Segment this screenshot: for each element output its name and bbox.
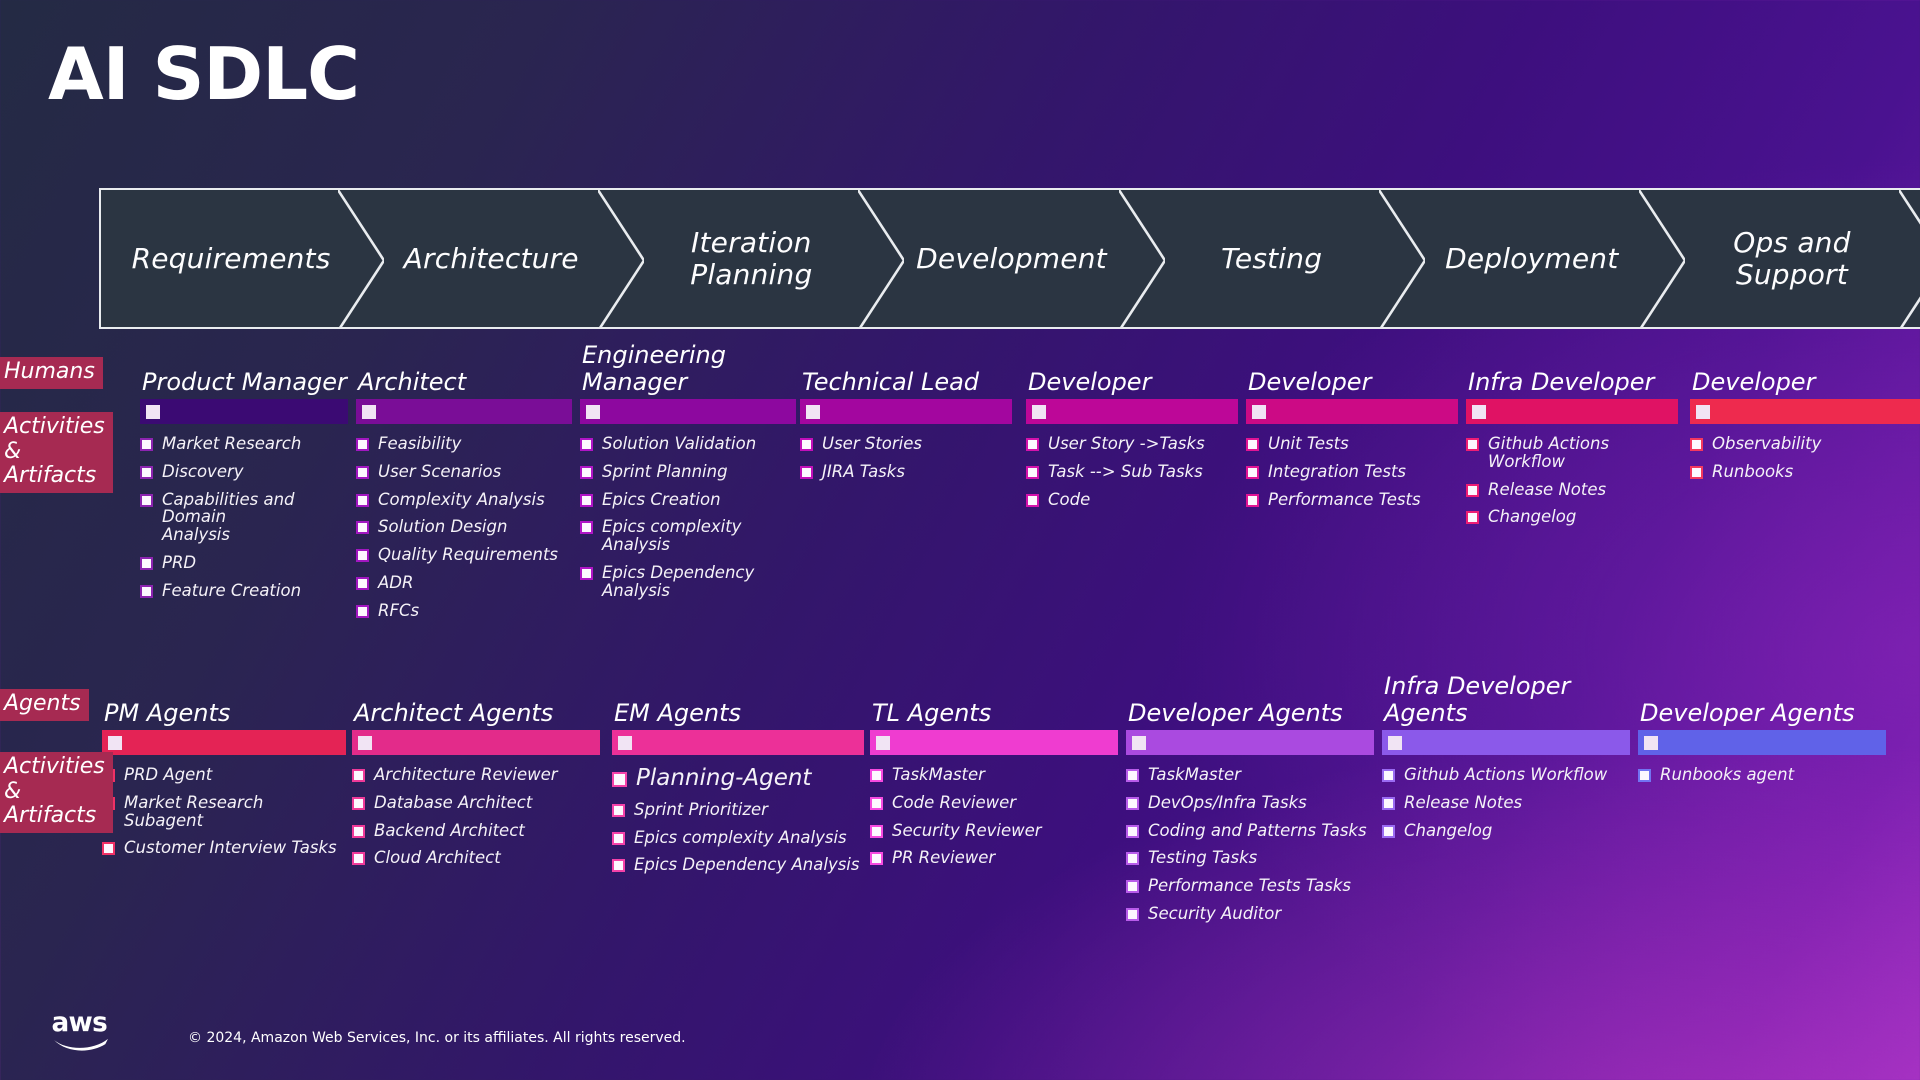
list-item-label: Epics Creation — [602, 491, 721, 509]
agent-item-list: TaskMasterDevOps/Infra TasksCoding and P… — [1126, 766, 1374, 923]
agent-item-list: Architecture ReviewerDatabase ArchitectB… — [352, 766, 600, 867]
human-color-bar — [1690, 399, 1920, 424]
phase-label: Testing — [1195, 243, 1348, 274]
human-column: Technical LeadUser StoriesJIRA Tasks — [800, 399, 1012, 491]
human-role-title: Architect — [358, 369, 614, 395]
agent-color-bar — [102, 730, 346, 755]
list-item[interactable]: Solution Validation — [580, 435, 796, 453]
checkbox-icon[interactable] — [1126, 769, 1139, 782]
agent-column: Developer AgentsTaskMasterDevOps/Infra T… — [1126, 730, 1374, 933]
row-label-humans-activities: Activities & Artifacts — [0, 412, 113, 493]
copyright-text: © 2024, Amazon Web Services, Inc. or its… — [188, 1030, 686, 1046]
phase-label: Development — [890, 243, 1133, 274]
checkbox-icon[interactable] — [356, 466, 369, 479]
phase-2[interactable]: Architecture — [361, 190, 621, 327]
list-item[interactable]: Capabilities and Domain Analysis — [140, 491, 348, 544]
list-item-label: Database Architect — [374, 794, 532, 812]
list-item-label: Unit Tests — [1268, 435, 1349, 453]
list-item-label: Changelog — [1488, 508, 1576, 526]
human-column: DeveloperUnit TestsIntegration TestsPerf… — [1246, 399, 1458, 518]
list-item[interactable]: ADR — [356, 574, 572, 592]
list-item-label: Cloud Architect — [374, 849, 501, 867]
list-item-label: Changelog — [1404, 822, 1492, 840]
bar-chip-icon — [1388, 736, 1402, 750]
human-color-bar — [580, 399, 796, 424]
human-role-title: Developer — [1028, 369, 1280, 395]
checkbox-icon[interactable] — [1466, 484, 1479, 497]
list-item[interactable]: Code — [1026, 491, 1238, 509]
agent-item-list: Planning-AgentSprint PrioritizerEpics co… — [612, 766, 864, 874]
list-item-label: TaskMaster — [892, 766, 985, 784]
checkbox-icon[interactable] — [1466, 511, 1479, 524]
list-item-label: Observability — [1712, 435, 1821, 453]
list-item[interactable]: User Stories — [800, 435, 1012, 453]
list-item-label: Solution Design — [378, 518, 507, 536]
list-item-label: Epics complexity Analysis — [634, 829, 847, 847]
checkbox-icon[interactable] — [356, 494, 369, 507]
checkbox-icon[interactable] — [1638, 769, 1651, 782]
checkbox-icon[interactable] — [580, 567, 593, 580]
list-item-label: Capabilities and Domain Analysis — [162, 491, 348, 544]
list-item-label: Sprint Prioritizer — [634, 801, 768, 819]
human-column: Product ManagerMarket ResearchDiscoveryC… — [140, 399, 348, 610]
list-item[interactable]: Discovery — [140, 463, 348, 481]
list-item[interactable]: Runbooks agent — [1638, 766, 1886, 784]
checkbox-icon[interactable] — [1690, 438, 1703, 451]
list-item-label: PRD — [162, 554, 196, 572]
bar-chip-icon — [1472, 405, 1486, 419]
list-item[interactable]: Observability — [1690, 435, 1920, 453]
checkbox-icon[interactable] — [800, 466, 813, 479]
list-item-label: Coding and Patterns Tasks — [1148, 822, 1367, 840]
list-item-label: Feature Creation — [162, 582, 301, 600]
list-item-label: Security Reviewer — [892, 822, 1042, 840]
agent-column: Developer AgentsRunbooks agent — [1638, 730, 1886, 794]
agent-color-bar — [1126, 730, 1374, 755]
phase-label: Requirements — [106, 243, 357, 274]
list-item[interactable]: Epics complexity Analysis — [580, 518, 796, 554]
phase-label: Ops and Support — [1707, 227, 1876, 290]
list-item-label: Task --> Sub Tasks — [1048, 463, 1203, 481]
list-item[interactable]: Feasibility — [356, 435, 572, 453]
list-item-label: Code Reviewer — [892, 794, 1016, 812]
page-title: AI SDLC — [48, 38, 359, 110]
list-item[interactable]: Epics Creation — [580, 491, 796, 509]
human-color-bar — [1026, 399, 1238, 424]
checkbox-icon[interactable] — [352, 797, 365, 810]
human-item-list: User Story ->TasksTask --> Sub TasksCode — [1026, 435, 1238, 508]
list-item-label: Release Notes — [1488, 481, 1606, 499]
checkbox-icon[interactable] — [870, 852, 883, 865]
list-item-label: Security Auditor — [1148, 905, 1281, 923]
bar-chip-icon — [1696, 405, 1710, 419]
list-item[interactable]: Github Actions Workflow — [1382, 766, 1630, 784]
checkbox-icon[interactable] — [356, 438, 369, 451]
footer: aws © 2024, Amazon Web Services, Inc. or… — [50, 1006, 686, 1052]
human-role-title: Developer — [1692, 369, 1920, 395]
checkbox-icon[interactable] — [356, 521, 369, 534]
list-item[interactable]: Task --> Sub Tasks — [1026, 463, 1238, 481]
phase-4[interactable]: Development — [881, 190, 1141, 327]
list-item[interactable]: Changelog — [1382, 822, 1630, 840]
list-item[interactable]: PR Reviewer — [870, 849, 1118, 867]
list-item[interactable]: Feature Creation — [140, 582, 348, 600]
list-item-label: Performance Tests — [1268, 491, 1421, 509]
agent-column: TL AgentsTaskMasterCode ReviewerSecurity… — [870, 730, 1118, 877]
agent-role-title: Developer Agents — [1640, 700, 1920, 726]
agent-column: Infra Developer AgentsGithub Actions Wor… — [1382, 730, 1630, 849]
list-item[interactable]: Security Auditor — [1126, 905, 1374, 923]
phase-3[interactable]: Iteration Planning — [621, 190, 881, 327]
agent-color-bar — [870, 730, 1118, 755]
checkbox-icon[interactable] — [1382, 769, 1395, 782]
agent-color-bar — [352, 730, 600, 755]
list-item-label: User Stories — [822, 435, 922, 453]
list-item[interactable]: Planning-Agent — [612, 766, 864, 791]
list-item-label: Solution Validation — [602, 435, 756, 453]
list-item-label: DevOps/Infra Tasks — [1148, 794, 1307, 812]
list-item[interactable]: User Scenarios — [356, 463, 572, 481]
agent-item-list: TaskMasterCode ReviewerSecurity Reviewer… — [870, 766, 1118, 867]
bar-chip-icon — [806, 405, 820, 419]
checkbox-icon[interactable] — [612, 772, 627, 787]
checkbox-icon[interactable] — [580, 438, 593, 451]
checkbox-icon[interactable] — [140, 557, 153, 570]
human-item-list: ObservabilityRunbooks — [1690, 435, 1920, 481]
checkbox-icon[interactable] — [870, 797, 883, 810]
human-item-list: FeasibilityUser ScenariosComplexity Anal… — [356, 435, 572, 620]
bar-chip-icon — [1644, 736, 1658, 750]
list-item-label: Epics Dependency Analysis — [602, 564, 754, 600]
list-item-label: JIRA Tasks — [822, 463, 905, 481]
agent-item-list: PRD AgentMarket Research SubagentCustome… — [102, 766, 346, 857]
agent-color-bar — [1382, 730, 1630, 755]
list-item-label: Market Research — [162, 435, 301, 453]
row-label-humans: Humans — [0, 357, 103, 389]
human-item-list: Solution ValidationSprint PlanningEpics … — [580, 435, 796, 600]
list-item[interactable]: Integration Tests — [1246, 463, 1458, 481]
list-item[interactable]: Security Reviewer — [870, 822, 1118, 840]
phase-chevron-band: RequirementsArchitectureIteration Planni… — [99, 188, 1920, 329]
list-item-label: Complexity Analysis — [378, 491, 545, 509]
list-item[interactable]: PRD Agent — [102, 766, 346, 784]
checkbox-icon[interactable] — [1246, 438, 1259, 451]
checkbox-icon[interactable] — [1026, 466, 1039, 479]
list-item-label: Runbooks agent — [1660, 766, 1794, 784]
human-role-title: Infra Developer — [1468, 369, 1720, 395]
list-item[interactable]: Release Notes — [1382, 794, 1630, 812]
agent-role-title: Infra Developer Agents — [1384, 673, 1672, 726]
phase-6[interactable]: Deployment — [1402, 190, 1662, 327]
list-item-label: TaskMaster — [1148, 766, 1241, 784]
list-item[interactable]: User Story ->Tasks — [1026, 435, 1238, 453]
bar-chip-icon — [586, 405, 600, 419]
phase-1[interactable]: Requirements — [101, 190, 361, 327]
list-item[interactable]: JIRA Tasks — [800, 463, 1012, 481]
agent-item-list: Github Actions WorkflowRelease NotesChan… — [1382, 766, 1630, 839]
human-column: ArchitectFeasibilityUser ScenariosComple… — [356, 399, 572, 630]
list-item[interactable]: Quality Requirements — [356, 546, 572, 564]
checkbox-icon[interactable] — [580, 521, 593, 534]
list-item-label: Feasibility — [378, 435, 461, 453]
list-item[interactable]: Epics Dependency Analysis — [580, 564, 796, 600]
list-item-label: Sprint Planning — [602, 463, 728, 481]
human-column: DeveloperUser Story ->TasksTask --> Sub … — [1026, 399, 1238, 518]
list-item-label: Quality Requirements — [378, 546, 558, 564]
list-item-label: Runbooks — [1712, 463, 1793, 481]
list-item-label: RFCs — [378, 602, 419, 620]
bar-chip-icon — [1032, 405, 1046, 419]
checkbox-icon[interactable] — [612, 832, 625, 845]
list-item-label: PR Reviewer — [892, 849, 995, 867]
list-item-label: Github Actions Workflow — [1404, 766, 1607, 784]
list-item[interactable]: Epics Dependency Analysis — [612, 856, 864, 874]
list-item[interactable]: Epics complexity Analysis — [612, 829, 864, 847]
phase-label: Iteration Planning — [664, 227, 838, 290]
list-item[interactable]: Cloud Architect — [352, 849, 600, 867]
checkbox-icon[interactable] — [1382, 825, 1395, 838]
list-item-label: Testing Tasks — [1148, 849, 1257, 867]
row-label-agents-activities: Activities & Artifacts — [0, 752, 113, 833]
checkbox-icon[interactable] — [1026, 438, 1039, 451]
bar-chip-icon — [358, 736, 372, 750]
row-label-agents: Agents — [0, 689, 89, 721]
list-item[interactable]: Market Research Subagent — [102, 794, 346, 830]
human-column: Engineering ManagerSolution ValidationSp… — [580, 399, 796, 610]
checkbox-icon[interactable] — [1246, 466, 1259, 479]
list-item[interactable]: Unit Tests — [1246, 435, 1458, 453]
aws-logo-icon: aws — [50, 1006, 116, 1052]
bar-chip-icon — [876, 736, 890, 750]
human-item-list: User StoriesJIRA Tasks — [800, 435, 1012, 481]
list-item-label: ADR — [378, 574, 413, 592]
list-item[interactable]: Performance Tests Tasks — [1126, 877, 1374, 895]
checkbox-icon[interactable] — [580, 466, 593, 479]
human-item-list: Unit TestsIntegration TestsPerformance T… — [1246, 435, 1458, 508]
checkbox-icon[interactable] — [1126, 880, 1139, 893]
bar-chip-icon — [362, 405, 376, 419]
human-color-bar — [1246, 399, 1458, 424]
checkbox-icon[interactable] — [1126, 908, 1139, 921]
list-item-label: User Scenarios — [378, 463, 501, 481]
agent-role-title: Developer Agents — [1128, 700, 1416, 726]
checkbox-icon[interactable] — [352, 769, 365, 782]
human-column: DeveloperObservabilityRunbooks — [1690, 399, 1920, 491]
list-item[interactable]: Github Actions Workflow — [1466, 435, 1678, 471]
list-item-label: Github Actions Workflow — [1488, 435, 1678, 471]
checkbox-icon[interactable] — [580, 494, 593, 507]
human-item-list: Github Actions WorkflowRelease NotesChan… — [1466, 435, 1678, 526]
checkbox-icon[interactable] — [140, 494, 153, 507]
checkbox-icon[interactable] — [1126, 852, 1139, 865]
bar-chip-icon — [146, 405, 160, 419]
list-item[interactable]: RFCs — [356, 602, 572, 620]
checkbox-icon[interactable] — [356, 549, 369, 562]
list-item-label: Market Research Subagent — [124, 794, 346, 830]
human-color-bar — [800, 399, 1012, 424]
human-role-title: Technical Lead — [802, 369, 1054, 395]
list-item-label: User Story ->Tasks — [1048, 435, 1205, 453]
list-item[interactable]: Architecture Reviewer — [352, 766, 600, 784]
list-item[interactable]: TaskMaster — [1126, 766, 1374, 784]
list-item[interactable]: Customer Interview Tasks — [102, 839, 346, 857]
list-item[interactable]: DevOps/Infra Tasks — [1126, 794, 1374, 812]
list-item-label: Customer Interview Tasks — [124, 839, 337, 857]
list-item[interactable]: Coding and Patterns Tasks — [1126, 822, 1374, 840]
checkbox-icon[interactable] — [612, 859, 625, 872]
list-item[interactable]: Solution Design — [356, 518, 572, 536]
list-item[interactable]: Sprint Prioritizer — [612, 801, 864, 819]
list-item[interactable]: Changelog — [1466, 508, 1678, 526]
agent-item-list: Runbooks agent — [1638, 766, 1886, 784]
agent-role-title: Architect Agents — [354, 700, 642, 726]
list-item[interactable]: PRD — [140, 554, 348, 572]
svg-text:aws: aws — [51, 1008, 107, 1038]
human-item-list: Market ResearchDiscoveryCapabilities and… — [140, 435, 348, 600]
checkbox-icon[interactable] — [140, 466, 153, 479]
phase-label: Architecture — [378, 243, 605, 274]
bar-chip-icon — [618, 736, 632, 750]
agent-color-bar — [612, 730, 864, 755]
agent-column: PM AgentsPRD AgentMarket Research Subage… — [102, 730, 346, 867]
human-role-title: Developer — [1248, 369, 1500, 395]
list-item[interactable]: Backend Architect — [352, 822, 600, 840]
checkbox-icon[interactable] — [1382, 797, 1395, 810]
checkbox-icon[interactable] — [1466, 438, 1479, 451]
list-item-label: Integration Tests — [1268, 463, 1406, 481]
agent-column: EM AgentsPlanning-AgentSprint Prioritize… — [612, 730, 864, 884]
human-role-title: Engineering Manager — [582, 342, 838, 395]
checkbox-icon[interactable] — [870, 825, 883, 838]
checkbox-icon[interactable] — [800, 438, 813, 451]
checkbox-icon[interactable] — [612, 804, 625, 817]
list-item-label: Epics Dependency Analysis — [634, 856, 859, 874]
human-column: Infra DeveloperGithub Actions WorkflowRe… — [1466, 399, 1678, 536]
agent-role-title: TL Agents — [872, 700, 1160, 726]
phase-7[interactable]: Ops and Support — [1662, 190, 1920, 327]
list-item-label: Performance Tests Tasks — [1148, 877, 1351, 895]
list-item[interactable]: Release Notes — [1466, 481, 1678, 499]
agent-role-title: EM Agents — [614, 700, 906, 726]
list-item[interactable]: Code Reviewer — [870, 794, 1118, 812]
checkbox-icon[interactable] — [1126, 797, 1139, 810]
checkbox-icon[interactable] — [1026, 494, 1039, 507]
checkbox-icon[interactable] — [356, 605, 369, 618]
checkbox-icon[interactable] — [102, 842, 115, 855]
agent-column: Architect AgentsArchitecture ReviewerDat… — [352, 730, 600, 877]
phase-5[interactable]: Testing — [1142, 190, 1402, 327]
list-item-label: Planning-Agent — [636, 766, 811, 791]
checkbox-icon[interactable] — [352, 825, 365, 838]
list-item[interactable]: Market Research — [140, 435, 348, 453]
list-item[interactable]: Performance Tests — [1246, 491, 1458, 509]
human-color-bar — [356, 399, 572, 424]
list-item[interactable]: Sprint Planning — [580, 463, 796, 481]
list-item[interactable]: Runbooks — [1690, 463, 1920, 481]
list-item[interactable]: TaskMaster — [870, 766, 1118, 784]
checkbox-icon[interactable] — [140, 585, 153, 598]
checkbox-icon[interactable] — [1246, 494, 1259, 507]
checkbox-icon[interactable] — [140, 438, 153, 451]
agent-color-bar — [1638, 730, 1886, 755]
bar-chip-icon — [108, 736, 122, 750]
checkbox-icon[interactable] — [1690, 466, 1703, 479]
list-item-label: Architecture Reviewer — [374, 766, 558, 784]
checkbox-icon[interactable] — [870, 769, 883, 782]
checkbox-icon[interactable] — [356, 577, 369, 590]
list-item-label: Code — [1048, 491, 1090, 509]
list-item-label: Discovery — [162, 463, 244, 481]
list-item-label: Release Notes — [1404, 794, 1522, 812]
list-item-label: PRD Agent — [124, 766, 212, 784]
list-item-label: Backend Architect — [374, 822, 525, 840]
bar-chip-icon — [1252, 405, 1266, 419]
agent-role-title: PM Agents — [104, 700, 388, 726]
human-color-bar — [140, 399, 348, 424]
phase-label: Deployment — [1419, 243, 1644, 274]
list-item[interactable]: Complexity Analysis — [356, 491, 572, 509]
list-item-label: Epics complexity Analysis — [602, 518, 741, 554]
list-item[interactable]: Testing Tasks — [1126, 849, 1374, 867]
list-item[interactable]: Database Architect — [352, 794, 600, 812]
checkbox-icon[interactable] — [1126, 825, 1139, 838]
checkbox-icon[interactable] — [352, 852, 365, 865]
bar-chip-icon — [1132, 736, 1146, 750]
human-color-bar — [1466, 399, 1678, 424]
human-role-title: Product Manager — [142, 369, 390, 395]
